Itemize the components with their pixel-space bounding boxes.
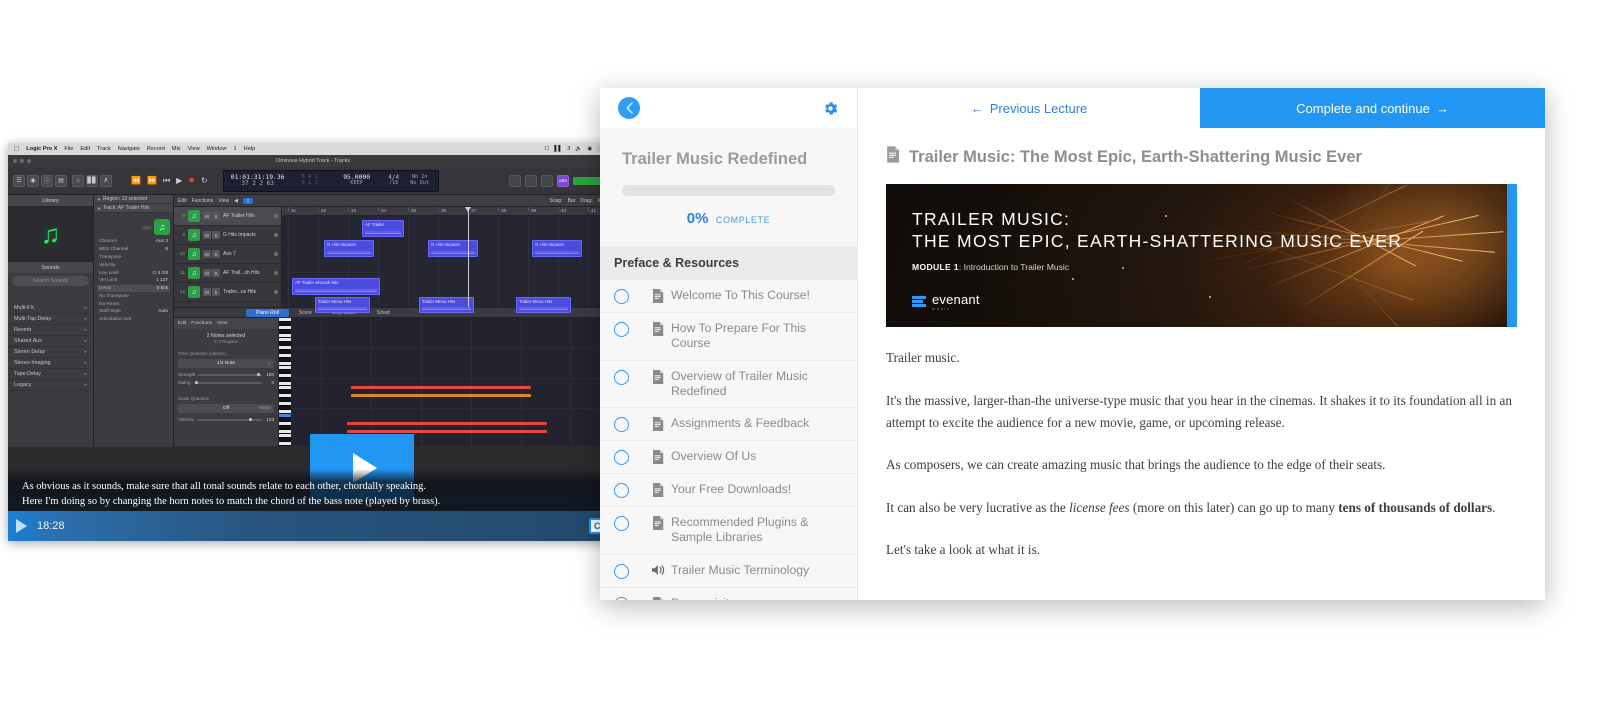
- menu-item-navigate[interactable]: Navigate: [118, 146, 140, 152]
- library-item-label: Legacy: [14, 382, 31, 388]
- document-icon: [645, 417, 671, 431]
- ruler-mark: 41: [591, 208, 596, 213]
- completion-ring-icon[interactable]: [614, 322, 629, 337]
- audio-icon: [645, 564, 671, 576]
- inspector-channel-strip: Icon ♫ ChannelAux 3 MIDI Channel8 Transp…: [94, 213, 173, 327]
- lesson-item-overview-of-us[interactable]: Overview Of Us: [600, 441, 857, 474]
- inspector-field-articulation-set[interactable]: Articulation Set: [97, 316, 170, 324]
- section-header: Preface & Resources: [600, 246, 857, 280]
- lesson-label: Prerequisites: [671, 596, 742, 601]
- transport-controls[interactable]: ⏪ ⏩ ⏮ ▶ ● ↻: [131, 175, 208, 186]
- course-player-panel: ← Previous Lecture Complete and continue…: [600, 88, 1545, 600]
- lcd-tempo-column: 95.0000 KEEP: [331, 174, 383, 186]
- disclosure-triangle-icon[interactable]: ▼: [97, 197, 101, 202]
- strength-label: Strength: [178, 372, 195, 377]
- inspector-field-no-transpose[interactable]: No Transpose: [97, 292, 170, 300]
- mute-button[interactable]: M: [203, 212, 211, 220]
- menu-bar-count: 3: [567, 146, 570, 152]
- tab-piano-roll[interactable]: Piano Roll: [246, 309, 289, 317]
- field-value: 8: [165, 247, 168, 252]
- track-row[interactable]: 12 ♫ MS Trailer...ns Hits: [174, 283, 281, 302]
- region-block[interactable]: G Hits Impacts: [324, 240, 374, 257]
- swing-slider[interactable]: Swing 0: [178, 380, 274, 385]
- cycle-icon[interactable]: ↻: [201, 177, 208, 185]
- editor-toolbar[interactable]: Edit Functions View: [174, 318, 278, 329]
- transport-smart-buttons[interactable]: ☼ ▊▊ ✗: [72, 175, 112, 187]
- strength-slider[interactable]: Strength 100: [178, 372, 274, 377]
- completion-ring-icon[interactable]: [614, 516, 629, 531]
- timeline-ruler[interactable]: 31 32 33 34 35 36 37 38 39 40 41 42: [282, 207, 618, 216]
- music-note-icon[interactable]: ♫: [188, 229, 200, 241]
- tuner-icon[interactable]: [509, 175, 521, 187]
- transport-right-buttons[interactable]: a04: [509, 175, 613, 187]
- library-item-stereo-delay[interactable]: Stereo Delay▸: [8, 347, 93, 358]
- solo-button[interactable]: S: [212, 231, 220, 239]
- fast-forward-icon[interactable]: ⏩: [147, 177, 157, 185]
- selection-info: 2 Notes selected in 2 Regions: [174, 329, 278, 347]
- track-row[interactable]: 9 ♫ MS G Hits Impacts: [174, 226, 281, 245]
- region-label: AF Trailer: [365, 222, 384, 227]
- field-key: Staff Style: [99, 309, 121, 314]
- ruler-mark: 35: [411, 208, 416, 213]
- apple-logo-icon: : [14, 146, 19, 153]
- mute-button[interactable]: M: [203, 288, 211, 296]
- transport-left-buttons[interactable]: ☰ ◉ ⓘ ▤: [13, 175, 67, 187]
- banner-module-text: : Introduction to Trailer Music: [959, 262, 1069, 272]
- snap-value[interactable]: Bar: [568, 198, 576, 204]
- track-name[interactable]: G Hits Impacts: [223, 232, 271, 238]
- transport-lcd-display[interactable]: 01:01:31:19.36 37 2 2 63 6 4 1 9 1 1 95.…: [223, 170, 439, 192]
- mute-button[interactable]: M: [203, 231, 211, 239]
- scale-quantize-section: Scale Quantize Off Major Velocity 123: [174, 392, 278, 429]
- window-traffic-lights[interactable]: [13, 159, 31, 163]
- tab-smart[interactable]: Smart: [367, 309, 400, 317]
- region-waveform: [519, 307, 568, 310]
- cpu-badge[interactable]: a04: [557, 175, 569, 187]
- music-note-icon[interactable]: ♫: [188, 286, 200, 298]
- region-waveform: [365, 231, 401, 234]
- video-time-display: 18:28: [37, 520, 65, 532]
- logic-pro-screenshot:  Logic Pro X File Edit Track Navigate R…: [8, 143, 618, 541]
- solo-button[interactable]: S: [212, 288, 220, 296]
- progress-label: 0% COMPLETE: [622, 210, 835, 228]
- music-note-icon[interactable]: ♫: [188, 248, 200, 260]
- paragraph-3: As composers, we can create amazing musi…: [886, 454, 1517, 475]
- solo-button[interactable]: S: [212, 269, 220, 277]
- track-name[interactable]: AF Trailer Hits: [223, 213, 271, 219]
- library-panel[interactable]: Library ♫ Sounds Search Sounds Multi-FX▸…: [8, 195, 94, 447]
- macos-menu-bar[interactable]:  Logic Pro X File Edit Track Navigate R…: [8, 143, 618, 155]
- velocity-track[interactable]: [197, 419, 262, 421]
- document-icon: [645, 450, 671, 464]
- volume-icon[interactable]: 🔈: [575, 146, 582, 152]
- inspector-field-no-reset[interactable]: No Reset: [97, 300, 170, 308]
- chevron-right-icon: ▸: [84, 371, 87, 377]
- time-quantize-select[interactable]: 1/4 Note ⌄: [178, 359, 274, 368]
- course-sidebar: Trailer Music Redefined 0% COMPLETE Pref…: [600, 128, 858, 600]
- swing-track[interactable]: [194, 382, 262, 384]
- previous-lecture-button[interactable]: ← Previous Lecture: [858, 88, 1200, 128]
- field-key: Articulation Set: [99, 317, 131, 322]
- disclosure-triangle-icon[interactable]: ▼: [97, 206, 101, 211]
- lucrative-mid: (more on this later) can go up to many: [1130, 500, 1339, 515]
- pointer-tool-icon[interactable]: ◀: [234, 198, 238, 204]
- lucrative-post: .: [1492, 500, 1495, 515]
- lesson-label: Your Free Downloads!: [671, 482, 791, 497]
- banner-line-1: TRAILER MUSIC:: [912, 208, 1402, 230]
- field-key: Transpose: [99, 255, 122, 260]
- editor-menu-functions[interactable]: Functions: [191, 321, 212, 326]
- inspector-field-delay[interactable]: Delay0 tick: [97, 285, 170, 293]
- menu-item-edit[interactable]: Edit: [80, 146, 90, 152]
- time-quantize-section: Time Quantize (classic) 1/4 Note ⌄ Stren…: [174, 347, 278, 392]
- screen-icon[interactable]: ☐: [544, 146, 549, 152]
- inspector-toggle-icon[interactable]: ◉: [27, 175, 39, 187]
- lesson-item-how-to-prepare[interactable]: How To Prepare For This Course: [600, 313, 857, 361]
- banner-module-label: MODULE 1: [912, 262, 959, 272]
- library-subheader: Sounds: [8, 262, 93, 273]
- lesson-item-prerequisites[interactable]: Prerequisites: [600, 588, 857, 601]
- play-icon[interactable]: [16, 519, 27, 533]
- region-block[interactable]: G Hits Impacts: [532, 240, 582, 257]
- lesson-label: Trailer Music Terminology: [671, 563, 809, 578]
- region-waveform: [327, 251, 371, 254]
- library-item-label: Multi-FX: [14, 305, 34, 311]
- complete-and-continue-button[interactable]: Complete and continue →: [1200, 88, 1545, 128]
- menu-item-track[interactable]: Track: [97, 146, 111, 152]
- inspector-panel[interactable]: ▼ Region: 13 selected ▼ Track: AF Traile…: [94, 195, 174, 447]
- region-block[interactable]: AF Trailer: [362, 220, 404, 237]
- lesson-label: Welcome To This Course!: [671, 288, 810, 303]
- paragraph-2: It's the massive, larger-than-the univer…: [886, 390, 1517, 433]
- region-block[interactable]: Trailer Menu Hits: [516, 297, 571, 313]
- library-item-legacy[interactable]: Legacy▸: [8, 380, 93, 391]
- quick-help-icon[interactable]: ⓘ: [41, 175, 53, 187]
- chevron-down-icon[interactable]: ⌄: [267, 361, 271, 366]
- chevron-right-icon: ▸: [84, 327, 87, 333]
- mute-solo-buttons[interactable]: MS: [203, 212, 220, 220]
- lesson-item-assignments-feedback[interactable]: Assignments & Feedback: [600, 408, 857, 441]
- track-number: 12: [177, 290, 185, 295]
- lecture-nav-bar: ← Previous Lecture Complete and continue…: [858, 88, 1545, 128]
- mute-button[interactable]: M: [203, 250, 211, 258]
- video-captions: As obvious as it sounds, make sure that …: [8, 469, 618, 511]
- lesson-label: Overview Of Us: [671, 449, 756, 464]
- track-name[interactable]: AF Trail...sh Hits: [223, 270, 271, 276]
- inspector-field-vel-limit[interactable]: Vel Limit1 127: [97, 277, 170, 285]
- metronome-icon[interactable]: [525, 175, 537, 187]
- inspector-field-midi-channel[interactable]: MIDI Channel8: [97, 246, 170, 254]
- library-header: Library: [8, 195, 93, 206]
- lesson-item-overview-of-trailer-music-redefined[interactable]: Overview of Trailer Music Redefined: [600, 361, 857, 409]
- completion-ring-icon[interactable]: [614, 417, 629, 432]
- evenant-logo-text: evenant: [932, 292, 980, 307]
- region-block[interactable]: AF Trailer whoosh hits: [292, 278, 380, 295]
- clock-icon[interactable]: ◉: [587, 146, 592, 152]
- inspector-icon-label: Icon: [142, 225, 151, 230]
- region-label: AF Trailer whoosh hits: [295, 280, 338, 285]
- track-row[interactable]: 11 ♫ MS AF Trail...sh Hits: [174, 264, 281, 283]
- meter-icon[interactable]: ▌▌: [554, 146, 562, 152]
- velocity-label: Velocity: [178, 417, 194, 422]
- completion-ring-icon[interactable]: [614, 597, 629, 601]
- lesson-item-your-free-downloads[interactable]: Your Free Downloads!: [600, 474, 857, 507]
- mute-solo-buttons[interactable]: MS: [203, 231, 220, 239]
- track-name[interactable]: Trailer...ns Hits: [223, 289, 271, 295]
- caption-line-2: Here I'm doing so by changing the horn n…: [22, 494, 604, 509]
- piano-keyboard[interactable]: [279, 318, 291, 446]
- menu-item-window[interactable]: Window: [207, 146, 227, 152]
- document-icon: [645, 289, 671, 303]
- lucrative-strong: tens of thousands of dollars: [1338, 500, 1492, 515]
- field-key: MIDI Channel: [99, 247, 128, 252]
- lesson-list[interactable]: Welcome To This Course! How To Prepare F…: [600, 280, 857, 600]
- record-enable-icon[interactable]: [274, 271, 278, 275]
- banner-module-line: MODULE 1: Introduction to Trailer Music: [912, 262, 1402, 272]
- evenant-logo-subtext: music: [932, 307, 980, 311]
- field-value: Aux 3: [156, 239, 168, 244]
- chevron-right-icon: ▸: [84, 349, 87, 355]
- lcd-signature-column: 4/4 /16: [383, 175, 405, 187]
- swing-value: 0: [265, 380, 274, 385]
- scale-quantize-select[interactable]: Off Major: [178, 404, 274, 413]
- completion-ring-icon[interactable]: [614, 483, 629, 498]
- time-quantize-value: 1/4 Note: [217, 361, 235, 366]
- lecture-banner-image[interactable]: TRAILER MUSIC: THE MOST EPIC, EARTH-SHAT…: [886, 184, 1517, 327]
- lcd-dim-bottom: 9 1 1: [302, 181, 318, 187]
- menu-item-help[interactable]: Help: [244, 146, 256, 152]
- lesson-label: Assignments & Feedback: [671, 416, 809, 431]
- course-title: Trailer Music Redefined: [622, 150, 835, 169]
- selection-regions: in 2 Regions: [214, 339, 237, 344]
- chevron-right-icon: ▸: [84, 338, 87, 344]
- mute-solo-buttons[interactable]: MS: [203, 250, 220, 258]
- lcd-io-column: No In No Out: [405, 175, 435, 186]
- track-row[interactable]: 8 ♫ MS AF Trailer Hits: [174, 207, 281, 226]
- library-item-multi-fx[interactable]: Multi-FX▸: [8, 303, 93, 314]
- inspector-field-channel[interactable]: ChannelAux 3: [97, 238, 170, 246]
- region-waveform: [535, 251, 579, 254]
- logic-window-title: Ominous Hybrid Track - Tracks: [276, 158, 350, 164]
- solo-button[interactable]: S: [212, 250, 220, 258]
- evenant-logo-mark-icon: [912, 295, 926, 309]
- paragraph-4-lucrative: It can also be very lucrative as the lic…: [886, 497, 1517, 518]
- record-enable-icon[interactable]: [274, 290, 278, 294]
- track-number: 8: [177, 214, 185, 219]
- record-enable-icon[interactable]: [274, 214, 278, 218]
- menu-item-one[interactable]: 1: [234, 146, 237, 152]
- lecture-content: Trailer Music: The Most Epic, Earth-Shat…: [858, 128, 1545, 600]
- logic-window-titlebar: Ominous Hybrid Track - Tracks: [8, 155, 618, 167]
- region-label: G Hits Impacts: [327, 242, 356, 247]
- music-note-icon: ♫: [41, 219, 61, 250]
- play-icon[interactable]: ▶: [176, 177, 182, 185]
- inspector-field-staff-style[interactable]: Staff StyleAuto: [97, 308, 170, 316]
- lcd-time-column: 01:01:31:19.36 37 2 2 63: [227, 174, 289, 187]
- completion-ring-icon[interactable]: [614, 370, 629, 385]
- strength-value: 100: [265, 372, 274, 377]
- ruler-mark: 32: [321, 208, 326, 213]
- region-waveform: [318, 307, 367, 310]
- menu-item-view[interactable]: View: [188, 146, 200, 152]
- tracks-menu-view[interactable]: View: [218, 198, 229, 204]
- count-in-icon[interactable]: [541, 175, 553, 187]
- piano-roll-grid[interactable]: [291, 318, 618, 446]
- record-enable-icon[interactable]: [274, 252, 278, 256]
- track-number: 9: [177, 233, 185, 238]
- settings-button[interactable]: [821, 99, 839, 117]
- region-block[interactable]: Trailer Menu Hits: [315, 297, 370, 313]
- go-to-start-icon[interactable]: ⏮: [163, 177, 170, 185]
- menu-item-file[interactable]: File: [64, 146, 73, 152]
- inspector-field-velocity[interactable]: Velocity: [97, 261, 170, 269]
- gear-icon: [822, 100, 839, 117]
- lucrative-pre: It can also be very lucrative as the: [886, 500, 1069, 515]
- editor-inspector[interactable]: Edit Functions View 2 Notes selected in …: [174, 318, 279, 446]
- lcd-dim-column: 6 4 1 9 1 1: [289, 175, 331, 186]
- velocity-row[interactable]: Velocity 123: [178, 417, 274, 422]
- lesson-label: Recommended Plugins & Sample Libraries: [671, 515, 847, 546]
- velocity-value: 123: [265, 417, 274, 422]
- library-item-shared-aux[interactable]: Shared Aux▸: [8, 336, 93, 347]
- record-enable-icon[interactable]: [274, 233, 278, 237]
- progress-complete-label: COMPLETE: [716, 215, 770, 225]
- tracks-toolbar[interactable]: Edit Functions View ◀ ♫ Snap: Bar Drag: …: [174, 195, 618, 207]
- paragraph-5: Let's take a look at what it is.: [886, 539, 1517, 560]
- strength-track[interactable]: [198, 374, 262, 376]
- document-icon: [645, 322, 671, 336]
- completion-ring-icon[interactable]: [614, 289, 629, 304]
- field-key: Vel Limit: [99, 278, 117, 283]
- chevron-right-icon: ▸: [84, 316, 87, 322]
- video-player-controls[interactable]: 18:28 CC: [8, 511, 618, 541]
- mute-solo-buttons[interactable]: MS: [203, 269, 220, 277]
- completion-ring-icon[interactable]: [614, 564, 629, 579]
- library-toggle-icon[interactable]: ☰: [13, 175, 25, 187]
- tracks-menu-edit[interactable]: Edit: [178, 198, 187, 204]
- lesson-item-welcome[interactable]: Welcome To This Course!: [600, 280, 857, 313]
- paragraph-1: Trailer music.: [886, 347, 1517, 368]
- menu-item-mix[interactable]: Mix: [172, 146, 181, 152]
- arrange-lanes[interactable]: 31 32 33 34 35 36 37 38 39 40 41 42: [282, 207, 618, 307]
- library-search-input[interactable]: Search Sounds: [12, 276, 89, 286]
- mute-button[interactable]: M: [203, 269, 211, 277]
- mixer-icon[interactable]: ▊▊: [86, 175, 98, 187]
- region-label: G Hits Impacts: [535, 242, 564, 247]
- chevron-left-icon: [625, 102, 634, 114]
- library-list[interactable]: Multi-FX▸ Multi-Tap Delay▸ Reverb▸ Share…: [8, 302, 93, 392]
- toolbar-toggle-icon[interactable]: ▤: [55, 175, 67, 187]
- ruler-mark: 37: [471, 208, 476, 213]
- ruler-mark: 34: [381, 208, 386, 213]
- region-waveform: [295, 289, 377, 292]
- menu-item-record[interactable]: Record: [147, 146, 165, 152]
- library-item-tape-delay[interactable]: Tape Delay▸: [8, 369, 93, 380]
- record-icon[interactable]: ●: [188, 175, 195, 186]
- editor-menu-view[interactable]: View: [217, 321, 227, 326]
- previous-lecture-label: Previous Lecture: [990, 101, 1088, 116]
- region-block[interactable]: G Hits Impacts: [428, 240, 478, 257]
- screenshot-root:  Logic Pro X File Edit Track Navigate R…: [0, 0, 1600, 711]
- sidebar-top-bar: [600, 88, 858, 128]
- back-button[interactable]: [618, 97, 640, 119]
- chevron-right-icon: ▸: [84, 382, 87, 388]
- time-quantize-title: Time Quantize (classic): [178, 351, 274, 356]
- library-item-label: Stereo Delay: [14, 349, 45, 355]
- track-row[interactable]: 10 ♫ MS Aux 7: [174, 245, 281, 264]
- lecture-body-text: Trailer music. It's the massive, larger-…: [886, 327, 1517, 560]
- field-key: Velocity: [99, 263, 116, 268]
- banner-headline: TRAILER MUSIC: THE MOST EPIC, EARTH-SHAT…: [912, 208, 1402, 272]
- lesson-item-trailer-music-terminology[interactable]: Trailer Music Terminology: [600, 555, 857, 588]
- logic-transport-bar[interactable]: ☰ ◉ ⓘ ▤ ☼ ▊▊ ✗ ⏪ ⏩ ⏮ ▶ ● ↻ 01:01:31:19.3…: [8, 167, 618, 195]
- ruler-mark: 38: [501, 208, 506, 213]
- tracks-area: Edit Functions View ◀ ♫ Snap: Bar Drag: …: [174, 195, 618, 447]
- inspector-region-row[interactable]: ▼ Region: 13 selected: [94, 195, 173, 204]
- tracks-split: 8 ♫ MS AF Trailer Hits 9 ♫ MS G Hits Imp…: [174, 207, 618, 307]
- ruler-mark: 36: [441, 208, 446, 213]
- field-key: Key Limit: [99, 271, 119, 276]
- region-block[interactable]: Trailer Menu Hits: [419, 297, 474, 313]
- music-note-icon[interactable]: ♫: [188, 267, 200, 279]
- editor-menu-edit[interactable]: Edit: [178, 321, 186, 326]
- lcd-division: /16: [389, 181, 398, 186]
- chevron-right-icon: ▸: [84, 305, 87, 311]
- library-item-stereo-imaging[interactable]: Stereo Imaging▸: [8, 358, 93, 369]
- logic-main-body: Library ♫ Sounds Search Sounds Multi-FX▸…: [8, 195, 618, 447]
- rewind-icon[interactable]: ⏪: [131, 177, 141, 185]
- lesson-item-recommended-plugins[interactable]: Recommended Plugins & Sample Libraries: [600, 507, 857, 555]
- library-item-label: Shared Aux: [14, 338, 42, 344]
- music-note-icon[interactable]: ♫: [154, 219, 170, 235]
- scale-quantize-off: Off: [223, 406, 229, 411]
- field-value: 0 tick: [157, 286, 168, 291]
- playhead[interactable]: [468, 207, 469, 307]
- caption-line-1: As obvious as it sounds, make sure that …: [22, 479, 604, 494]
- music-note-icon[interactable]: ♫: [188, 210, 200, 222]
- smart-controls-icon[interactable]: ☼: [72, 175, 84, 187]
- field-value: Auto: [158, 309, 168, 314]
- complete-and-continue-label: Complete and continue: [1296, 101, 1430, 116]
- inspector-track-icon-row[interactable]: Icon ♫: [97, 216, 170, 238]
- editors-icon[interactable]: ✗: [100, 175, 112, 187]
- lecture-title-row: Trailer Music: The Most Epic, Earth-Shat…: [886, 146, 1517, 168]
- ruler-mark: 31: [291, 208, 296, 213]
- track-name[interactable]: Aux 7: [223, 251, 271, 257]
- library-item-multi-tap-delay[interactable]: Multi-Tap Delay▸: [8, 314, 93, 325]
- document-icon: [886, 146, 900, 168]
- solo-button[interactable]: S: [212, 212, 220, 220]
- lcd-out-label: No Out: [410, 181, 429, 186]
- library-item-reverb[interactable]: Reverb▸: [8, 325, 93, 336]
- document-icon: [645, 483, 671, 497]
- completion-ring-icon[interactable]: [614, 450, 629, 465]
- progress-bar: [622, 185, 835, 196]
- banner-artwork: TRAILER MUSIC: THE MOST EPIC, EARTH-SHAT…: [886, 184, 1507, 327]
- lucrative-emphasis: license fees: [1069, 500, 1129, 515]
- flex-tool-icon[interactable]: ♫: [243, 198, 253, 204]
- track-number: 10: [177, 252, 185, 257]
- tracks-menu-functions[interactable]: Functions: [192, 198, 214, 204]
- inspector-field-transpose[interactable]: Transpose: [97, 254, 170, 262]
- mute-solo-buttons[interactable]: MS: [203, 288, 220, 296]
- inspector-track-row[interactable]: ▼ Track: AF Trailer Hits: [94, 204, 173, 213]
- inspector-field-key-limit[interactable]: Key LimitC-3 G8: [97, 269, 170, 277]
- field-value: 1 127: [156, 278, 168, 283]
- track-headers-list[interactable]: 8 ♫ MS AF Trailer Hits 9 ♫ MS G Hits Imp…: [174, 207, 282, 307]
- ruler-mark: 40: [561, 208, 566, 213]
- region-label: Trailer Menu Hits: [519, 299, 552, 304]
